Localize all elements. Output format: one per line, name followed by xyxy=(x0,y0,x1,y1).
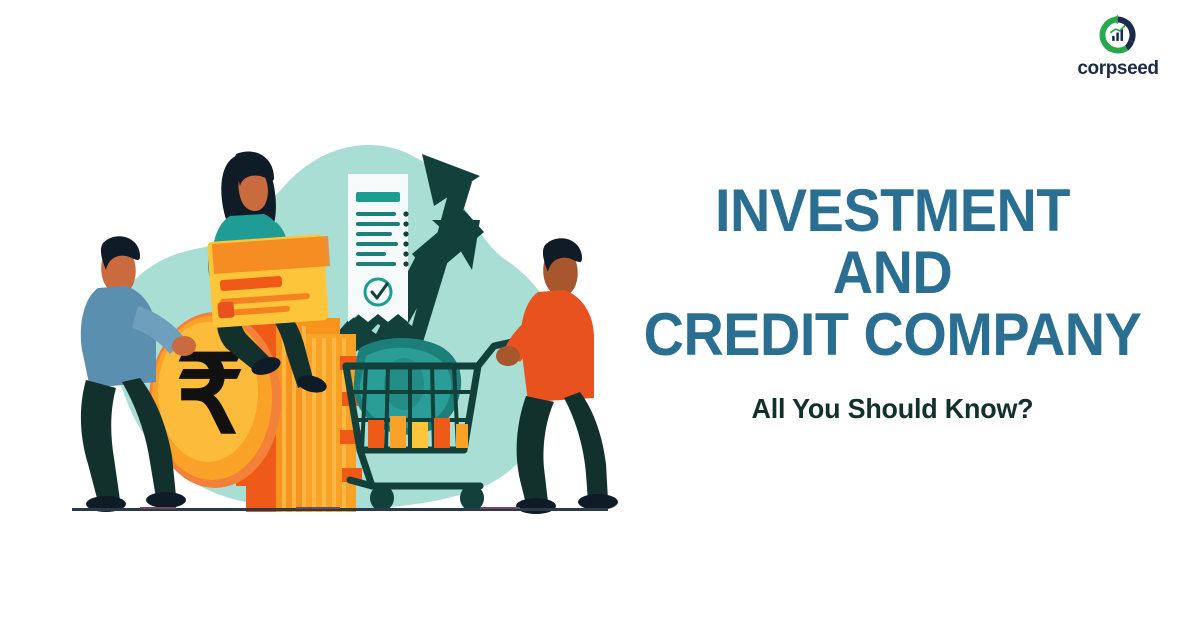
headline-line-1: INVESTMENT xyxy=(639,180,1146,242)
receipt-document xyxy=(348,174,409,322)
headline-block: INVESTMENT AND CREDIT COMPANY All You Sh… xyxy=(620,180,1165,425)
page-title: INVESTMENT AND CREDIT COMPANY xyxy=(639,180,1146,365)
headline-line-3: CREDIT COMPANY xyxy=(639,304,1146,366)
banner-root: corpseed INVESTMENT AND CREDIT COMPANY A… xyxy=(0,0,1200,630)
page-subtitle: All You Should Know? xyxy=(631,393,1154,425)
brand-wordmark: corpseed xyxy=(1077,58,1158,80)
brand-logo[interactable]: corpseed xyxy=(1058,14,1178,80)
credit-card-icon xyxy=(207,234,330,328)
investment-credit-illustration: ₹ xyxy=(60,120,620,530)
corpseed-circular-chart-logo-icon xyxy=(1097,14,1139,56)
headline-line-2: AND xyxy=(639,242,1146,304)
